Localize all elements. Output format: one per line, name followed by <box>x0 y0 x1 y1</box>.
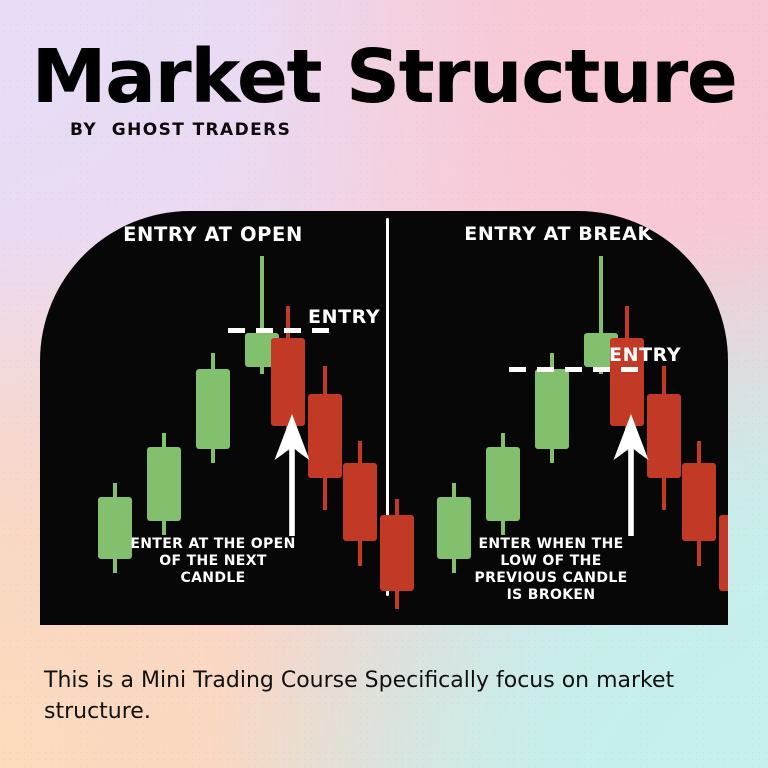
chart-panel: ENTRY AT OPEN <box>40 211 728 625</box>
candle-body <box>535 369 569 449</box>
candle-body <box>308 394 342 478</box>
candle-body <box>682 463 716 541</box>
candle-left-3 <box>196 353 230 463</box>
candle-body <box>271 338 305 426</box>
byline: BY GHOST TRADERS <box>70 120 291 140</box>
candle-right-8 <box>719 499 728 609</box>
candle-right-6 <box>647 366 681 510</box>
right-caption: ENTER WHEN THE LOW OF THE PREVIOUS CANDL… <box>411 536 691 604</box>
candle-right-2 <box>486 433 520 535</box>
right-chart-section: ENTRY AT BREAK <box>389 211 728 625</box>
candle-body <box>647 394 681 478</box>
candle-body <box>343 463 377 541</box>
left-entry-dashed-line <box>228 328 338 333</box>
right-entry-label: ENTRY <box>609 344 681 366</box>
candle-left-2 <box>147 433 181 535</box>
candle-body <box>719 515 728 591</box>
candle-left-6 <box>308 366 342 510</box>
arrow-up-icon <box>611 414 651 536</box>
left-section-heading: ENTRY AT OPEN <box>40 223 386 246</box>
poster-root: Market Structure BY GHOST TRADERS ENTRY … <box>0 0 768 768</box>
left-entry-arrow <box>272 414 312 536</box>
left-caption: ENTER AT THE OPEN OF THE NEXT CANDLE <box>73 536 353 587</box>
page-title: Market Structure <box>0 42 768 112</box>
left-chart-section: ENTRY AT OPEN <box>40 211 386 625</box>
footer-description: This is a Mini Trading Course Specifical… <box>44 665 734 727</box>
left-entry-label: ENTRY <box>308 306 380 328</box>
right-section-heading: ENTRY AT BREAK <box>389 223 728 245</box>
right-entry-dashed-line <box>509 367 647 372</box>
right-entry-arrow <box>611 414 651 536</box>
arrow-up-icon <box>272 414 312 536</box>
candle-body <box>196 369 230 449</box>
candle-body <box>147 447 181 521</box>
poster-header: Market Structure BY GHOST TRADERS <box>0 42 768 112</box>
candle-body <box>486 447 520 521</box>
